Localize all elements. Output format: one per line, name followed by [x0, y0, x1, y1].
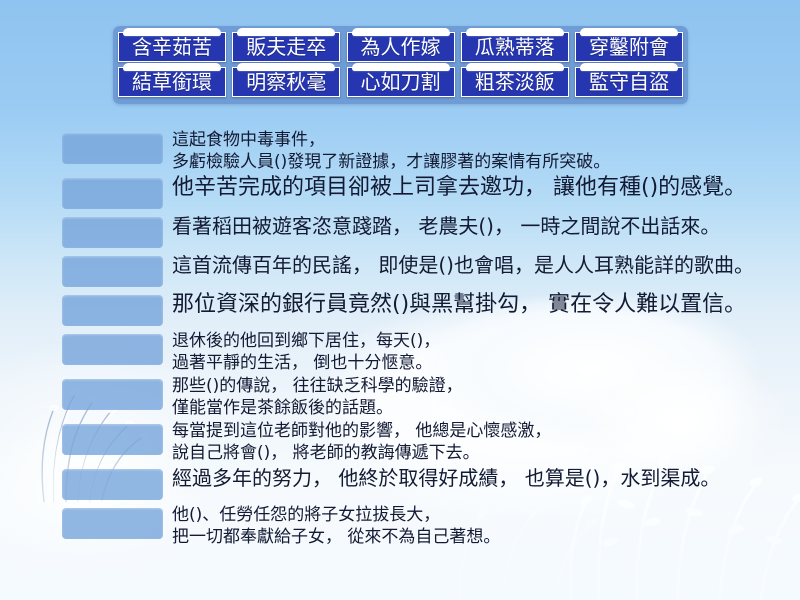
idiom-tile[interactable]: 結草銜環 [118, 67, 226, 97]
idiom-tile[interactable]: 販夫走卒 [232, 32, 340, 62]
sentence-row: 他()、任勞任怨的將子女拉拔長大， 把一切都奉獻給子女， 從來不為自己著想。 [0, 505, 800, 548]
answer-dropzone[interactable] [62, 295, 163, 326]
answer-dropzone[interactable] [62, 469, 163, 500]
sentence-row: 每當提到這位老師對他的影響， 他總是心懷感激， 說自己將會()， 將老師的教誨傳… [0, 421, 800, 464]
sentence-list: 這起食物中毒事件， 多虧檢驗人員()發現了新證據，才讓膠著的案情有所突破。 他辛… [0, 130, 800, 550]
sentence-text: 那位資深的銀行員竟然()與黑幫掛勾， 實在令人難以置信。 [172, 292, 746, 318]
answer-dropzone[interactable] [62, 133, 163, 164]
answer-dropzone[interactable] [62, 508, 163, 539]
sentence-row: 他辛苦完成的項目卻被上司拿去邀功， 讓他有種()的感覺。 [0, 175, 800, 209]
sentence-text: 這起食物中毒事件， 多虧檢驗人員()發現了新證據，才讓膠著的案情有所突破。 [172, 130, 610, 173]
idiom-tile-label: 販夫走卒 [246, 37, 326, 57]
idiom-tile[interactable]: 心如刀割 [347, 67, 455, 97]
sentence-text: 看著稻田被遊客恣意踐踏， 老農夫()， 一時之間說不出話來。 [172, 214, 720, 239]
sentence-row: 經過多年的努力， 他終於取得好成績， 也算是()，水到渠成。 [0, 466, 800, 500]
idiom-tile[interactable]: 穿鑿附會 [575, 32, 683, 62]
sentence-row: 這首流傳百年的民謠， 即使是()也會唱，是人人耳熟能詳的歌曲。 [0, 253, 800, 287]
sentence-row: 那些()的傳說， 往往缺乏科學的驗證， 僅能當作是茶餘飯後的話題。 [0, 376, 800, 419]
answer-dropzone[interactable] [62, 256, 163, 287]
idiom-tile-label: 含辛茹苦 [132, 37, 212, 57]
sentence-text: 退休後的他回到鄉下居住，每天()， 過著平靜的生活， 倒也十分愜意。 [172, 331, 440, 374]
exercise-stage: 含辛茹苦 販夫走卒 為人作嫁 瓜熟蒂落 穿鑿附會 結草銜環 [0, 0, 800, 600]
idiom-tile[interactable]: 明察秋毫 [232, 67, 340, 97]
idiom-tile[interactable]: 監守自盜 [575, 67, 683, 97]
idiom-tile-label: 穿鑿附會 [589, 37, 669, 57]
idiom-tile-label: 結草銜環 [132, 72, 212, 92]
sentence-text: 那些()的傳說， 往往缺乏科學的驗證， 僅能當作是茶餘飯後的話題。 [172, 376, 463, 419]
sentence-text: 這首流傳百年的民謠， 即使是()也會唱，是人人耳熟能詳的歌曲。 [172, 253, 754, 278]
idiom-tile[interactable]: 含辛茹苦 [118, 32, 226, 62]
idiom-tile-label: 粗茶淡飯 [475, 72, 555, 92]
idiom-tile-label: 監守自盜 [589, 72, 669, 92]
idiom-bank-panel: 含辛茹苦 販夫走卒 為人作嫁 瓜熟蒂落 穿鑿附會 結草銜環 [113, 26, 688, 104]
idiom-tile-label: 瓜熟蒂落 [475, 37, 555, 57]
idiom-tile-label: 為人作嫁 [361, 37, 441, 57]
idiom-bank-row-2: 結草銜環 明察秋毫 心如刀割 粗茶淡飯 監守自盜 [118, 67, 683, 97]
answer-dropzone[interactable] [62, 424, 163, 455]
idiom-tile[interactable]: 為人作嫁 [347, 32, 455, 62]
idiom-tile[interactable]: 粗茶淡飯 [461, 67, 569, 97]
answer-dropzone[interactable] [62, 379, 163, 410]
sentence-text: 他辛苦完成的項目卻被上司拿去邀功， 讓他有種()的感覺。 [172, 175, 746, 201]
answer-dropzone[interactable] [62, 217, 163, 248]
sentence-row: 看著稻田被遊客恣意踐踏， 老農夫()， 一時之間說不出話來。 [0, 214, 800, 248]
answer-dropzone[interactable] [62, 334, 163, 365]
sentence-text: 他()、任勞任怨的將子女拉拔長大， 把一切都奉獻給子女， 從來不為自己著想。 [172, 505, 500, 548]
idiom-bank-row-1: 含辛茹苦 販夫走卒 為人作嫁 瓜熟蒂落 穿鑿附會 [118, 32, 683, 62]
sentence-row: 退休後的他回到鄉下居住，每天()， 過著平靜的生活， 倒也十分愜意。 [0, 331, 800, 374]
sentence-row: 那位資深的銀行員竟然()與黑幫掛勾， 實在令人難以置信。 [0, 292, 800, 326]
sentence-row: 這起食物中毒事件， 多虧檢驗人員()發現了新證據，才讓膠著的案情有所突破。 [0, 130, 800, 173]
sentence-text: 經過多年的努力， 他終於取得好成績， 也算是()，水到渠成。 [172, 466, 720, 491]
answer-dropzone[interactable] [62, 178, 163, 209]
sentence-text: 每當提到這位老師對他的影響， 他總是心懷感激， 說自己將會()， 將老師的教誨傳… [172, 421, 551, 464]
idiom-tile[interactable]: 瓜熟蒂落 [461, 32, 569, 62]
idiom-tile-label: 心如刀割 [361, 72, 441, 92]
idiom-tile-label: 明察秋毫 [246, 72, 326, 92]
